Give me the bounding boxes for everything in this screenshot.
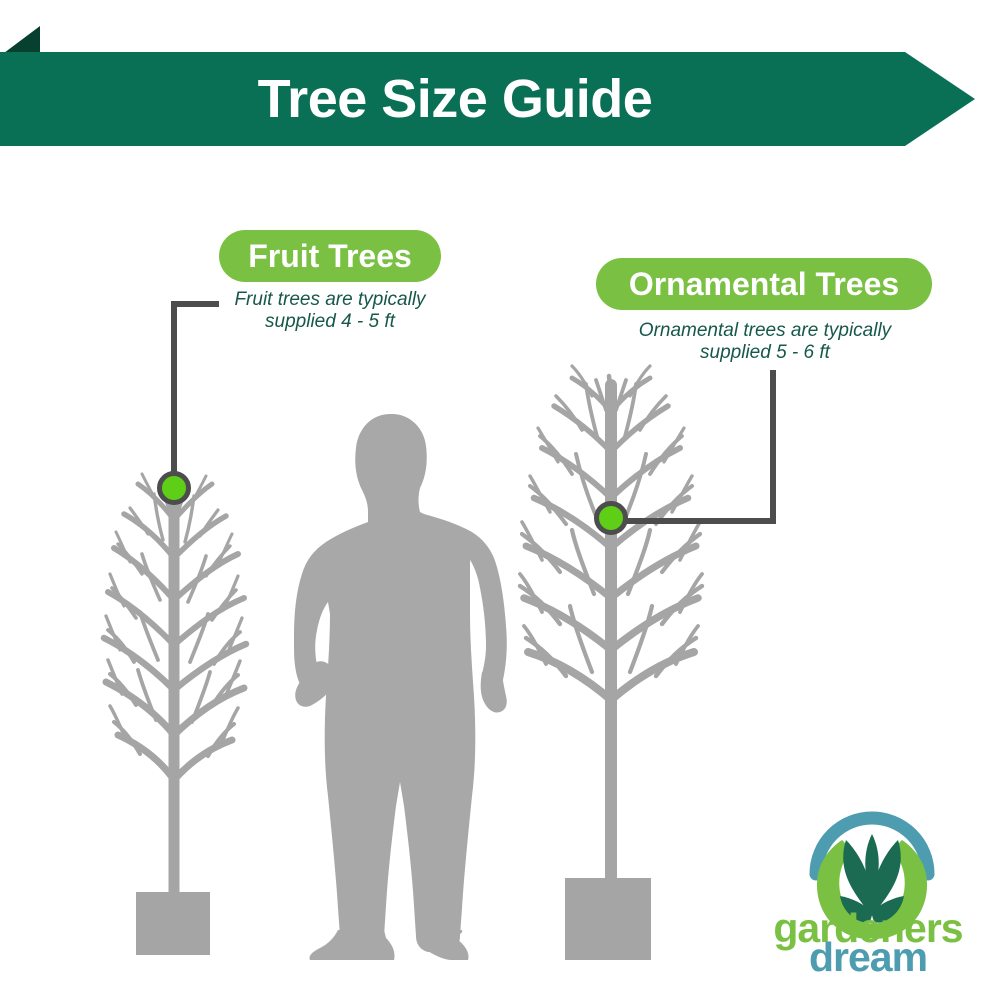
ornamental-tree-pot (565, 878, 651, 960)
fruit-tree-pot (136, 892, 210, 955)
header-banner: Tree Size Guide (0, 26, 1000, 166)
fruit-tree-height-marker (157, 471, 191, 505)
fruit-tree-illustration (104, 474, 246, 892)
leader-line-ornamental-horizontal (610, 518, 776, 524)
caption-ornamental-trees: Ornamental trees are typically supplied … (602, 320, 928, 364)
page-title: Tree Size Guide (0, 52, 910, 146)
badge-ornamental-trees: Ornamental Trees (596, 258, 932, 310)
infographic-canvas: Tree Size Guide Fruit Trees Fruit trees … (0, 0, 1000, 1000)
leader-line-fruit-horizontal (171, 301, 219, 307)
caption-fruit-trees: Fruit trees are typically supplied 4 - 5… (200, 289, 460, 333)
logo-word-dream: dream (752, 937, 984, 978)
ornamental-tree-illustration (520, 366, 702, 878)
human-scale-silhouette (294, 414, 507, 960)
leader-line-fruit-vertical (171, 301, 177, 489)
ornamental-tree-height-marker (594, 501, 628, 535)
leader-line-ornamental-vertical (770, 370, 776, 524)
badge-fruit-trees: Fruit Trees (219, 230, 441, 282)
brand-logo: gardeners dream (752, 806, 984, 982)
